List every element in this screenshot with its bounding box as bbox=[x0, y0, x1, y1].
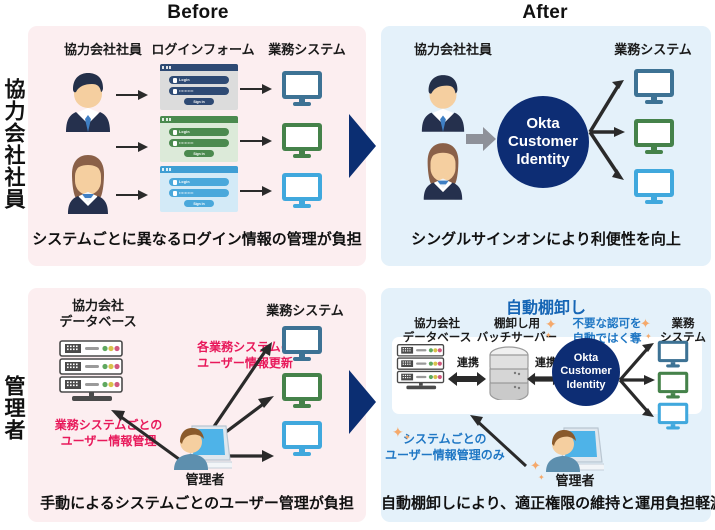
monitor-system-green-after bbox=[633, 118, 675, 161]
partner-database-server-stack bbox=[58, 340, 128, 407]
arrow-employee-to-form-2 bbox=[116, 140, 148, 158]
sparkle-icon: ✦ bbox=[545, 331, 552, 340]
okta-line-3: Identity bbox=[508, 151, 578, 169]
sparkle-icon: ✦ bbox=[392, 424, 404, 441]
partner-database-server-stack-after bbox=[396, 343, 448, 396]
login-password-field[interactable]: •••••••••• bbox=[169, 139, 229, 147]
login-password-field[interactable]: •••••••••• bbox=[169, 87, 229, 95]
label-administrator-after: 管理者 bbox=[530, 473, 620, 489]
arrow-employee-to-form-3 bbox=[116, 188, 148, 206]
lock-icon bbox=[173, 191, 177, 196]
avatar-administrator-after bbox=[540, 420, 604, 481]
avatar-male-employee-after bbox=[418, 72, 468, 137]
footer-after-partner: シングルサインオンにより利便性を向上 bbox=[381, 228, 711, 249]
monitor-system-green bbox=[281, 122, 323, 165]
lock-icon bbox=[173, 89, 177, 94]
row-label-administrator: 管理者 bbox=[2, 375, 24, 445]
row-label-partner-employee: 協力会社社員 bbox=[2, 78, 24, 233]
monitor-system-lightblue bbox=[281, 172, 323, 215]
login-form-titlebar bbox=[160, 116, 238, 123]
login-signin-button[interactable]: Sign in bbox=[184, 150, 214, 157]
monitor-after-admin-steel bbox=[657, 340, 689, 374]
login-form-gray[interactable]: Login •••••••••• Sign in bbox=[160, 64, 238, 110]
monitor-admin-green bbox=[281, 372, 323, 415]
window-dots-icon bbox=[162, 168, 171, 171]
login-form-titlebar bbox=[160, 166, 238, 173]
batch-server-database-icon bbox=[487, 346, 531, 405]
arrow-db-batch-bidirectional bbox=[448, 372, 486, 391]
sparkle-icon: ✦ bbox=[640, 316, 651, 332]
label-administrator-before: 管理者 bbox=[160, 472, 250, 488]
login-password-field[interactable]: •••••••••• bbox=[169, 189, 229, 197]
label-partner-employee-before: 協力会社社員 bbox=[48, 42, 158, 58]
monitor-system-lightblue-after bbox=[633, 168, 675, 211]
arrows-okta-to-systems-bottom bbox=[618, 340, 660, 425]
monitor-system-steel bbox=[281, 70, 323, 113]
label-business-system-before: 業務システム bbox=[252, 42, 362, 58]
arrow-okta-to-systems bbox=[588, 74, 630, 189]
title-automatic-inventory: 自動棚卸し bbox=[381, 294, 711, 318]
login-form-blue[interactable]: Login •••••••••• Sign in bbox=[160, 166, 238, 212]
transition-arrow-top bbox=[349, 114, 376, 178]
monitor-after-admin-green bbox=[657, 371, 689, 405]
monitor-system-steel-after bbox=[633, 68, 675, 111]
user-icon bbox=[173, 78, 177, 83]
window-dots-icon bbox=[162, 118, 171, 121]
okta-customer-identity-badge: Okta Customer Identity bbox=[497, 96, 589, 188]
label-login-form: ログインフォーム bbox=[148, 42, 258, 58]
avatar-male-employee bbox=[62, 70, 114, 137]
label-partner-employee-after: 協力会社社員 bbox=[398, 42, 508, 58]
label-business-system-after: 業務システム bbox=[608, 42, 698, 58]
okta-line-1: Okta bbox=[508, 115, 578, 133]
label-partner-db-after: 協力会社 データベース bbox=[392, 317, 482, 346]
monitor-admin-lightblue bbox=[281, 420, 323, 463]
arrow-employees-to-okta bbox=[466, 126, 496, 157]
monitor-after-admin-lightblue bbox=[657, 402, 689, 436]
login-signin-button[interactable]: Sign in bbox=[184, 200, 214, 207]
login-signin-button[interactable]: Sign in bbox=[184, 98, 214, 105]
footer-before-admin: 手動によるシステムごとのユーザー管理が負担 bbox=[28, 492, 366, 513]
transition-arrow-bottom bbox=[349, 370, 376, 434]
login-username-field[interactable]: Login bbox=[169, 178, 229, 186]
monitor-admin-steel bbox=[281, 325, 323, 368]
okta-line-1: Okta bbox=[560, 352, 611, 365]
okta-line-2: Customer bbox=[560, 365, 611, 378]
footer-before-partner: システムごとに異なるログイン情報の管理が負担 bbox=[28, 228, 366, 249]
column-header-after: After bbox=[380, 2, 710, 24]
column-header-before: Before bbox=[28, 2, 368, 24]
login-username-field[interactable]: Login bbox=[169, 128, 229, 136]
okta-customer-identity-badge-bottom: Okta Customer Identity bbox=[552, 338, 620, 406]
login-username-field[interactable]: Login bbox=[169, 76, 229, 84]
footer-after-admin: 自動棚卸しにより、適正権限の維持と運用負担軽減 bbox=[381, 492, 711, 513]
arrow-form-to-system-2 bbox=[240, 134, 272, 152]
avatar-administrator bbox=[168, 418, 232, 479]
login-form-green[interactable]: Login •••••••••• Sign in bbox=[160, 116, 238, 162]
avatar-female-employee-after bbox=[418, 140, 468, 205]
okta-line-2: Customer bbox=[508, 133, 578, 151]
user-icon bbox=[173, 180, 177, 185]
label-business-system-admin-before: 業務システム bbox=[250, 303, 360, 319]
lock-icon bbox=[173, 141, 177, 146]
infographic-root: Before After 協力会社社員 管理者 協力会社社員 ログインフォーム … bbox=[0, 0, 715, 530]
label-link-left: 連携 bbox=[450, 357, 486, 371]
user-icon bbox=[173, 130, 177, 135]
arrow-form-to-system-1 bbox=[240, 82, 272, 100]
sparkle-icon: ✦ bbox=[404, 433, 411, 442]
okta-line-3: Identity bbox=[560, 379, 611, 392]
label-partner-db-before: 協力会社 データベース bbox=[38, 298, 158, 331]
window-dots-icon bbox=[162, 66, 171, 69]
arrow-employee-to-form-1 bbox=[116, 88, 148, 106]
login-form-titlebar bbox=[160, 64, 238, 71]
avatar-female-employee bbox=[62, 152, 114, 219]
arrow-form-to-system-3 bbox=[240, 184, 272, 202]
